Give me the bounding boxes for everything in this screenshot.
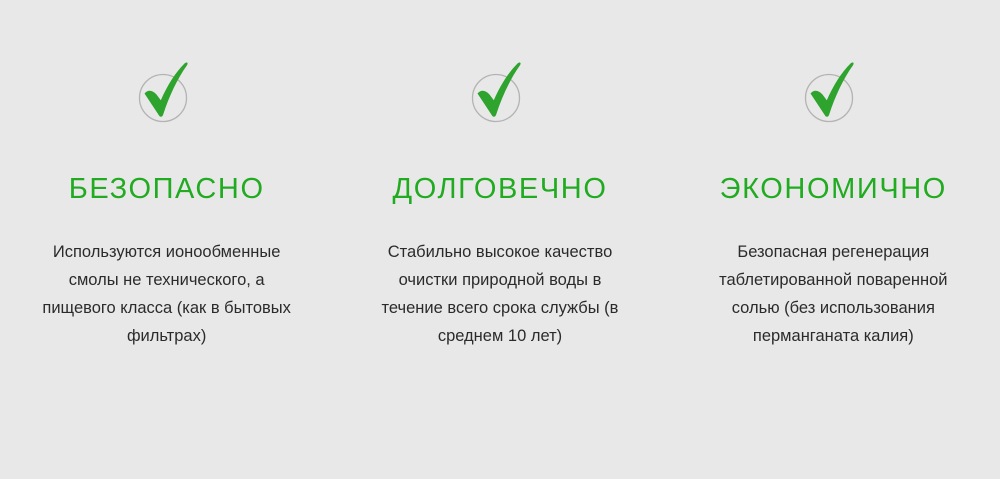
feature-title: БЕЗОПАСНО	[69, 173, 265, 205]
green-check-in-circle-icon	[127, 48, 207, 128]
feature-title: ЭКОНОМИЧНО	[720, 173, 947, 205]
feature-description: Безопасная регенерация таблетированной п…	[699, 238, 967, 350]
feature-card-durable: ДОЛГОВЕЧНО Стабильно высокое качество оч…	[333, 0, 666, 350]
feature-description: Используются ионообменные смолы не техни…	[37, 238, 297, 350]
feature-card-safe: БЕЗОПАСНО Используются ионообменные смол…	[0, 0, 333, 350]
feature-title: ДОЛГОВЕЧНО	[392, 173, 607, 205]
feature-card-economical: ЭКОНОМИЧНО Безопасная регенерация таблет…	[667, 0, 1000, 350]
green-check-in-circle-icon	[793, 48, 873, 128]
green-check-in-circle-icon	[460, 48, 540, 128]
feature-description: Стабильно высокое качество очистки приро…	[370, 238, 630, 350]
features-section: БЕЗОПАСНО Используются ионообменные смол…	[0, 0, 1000, 479]
